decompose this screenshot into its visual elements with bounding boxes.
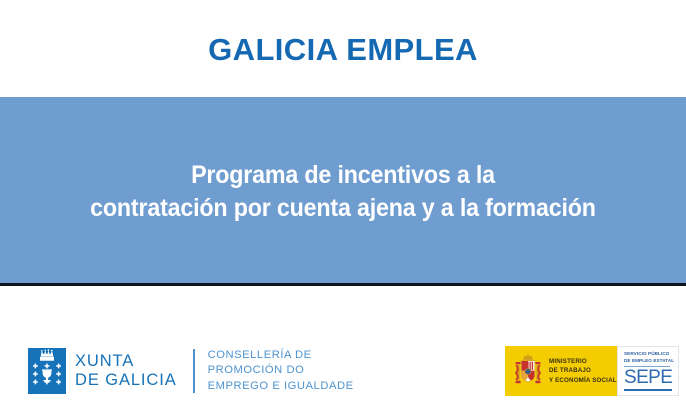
- header-band: GALICIA EMPLEA: [0, 0, 686, 97]
- page-title: GALICIA EMPLEA: [208, 30, 478, 68]
- footer-vertical-divider: [193, 349, 195, 393]
- conselleria-line-2: PROMOCIÓN DO: [208, 363, 354, 378]
- sepe-caption-line-2: DE EMPLEO ESTATAL: [624, 358, 674, 365]
- ministerio-line-2: DE TRABAJO: [549, 366, 617, 375]
- sepe-logo: SERVICIO PÚBLICO DE EMPLEO ESTATAL SEPE: [617, 346, 679, 396]
- sepe-underline-rule: [624, 389, 672, 391]
- footer-logos: XUNTA DE GALICIA CONSELLERÍA DE PROMOCIÓ…: [0, 286, 686, 410]
- program-banner: Programa de incentivos a la contratación…: [0, 97, 686, 283]
- xunta-wordmark-line-2: DE GALICIA: [75, 371, 177, 390]
- sepe-acronym: SEPE: [624, 368, 672, 387]
- ministerio-line-1: MINISTERIO: [549, 357, 617, 366]
- banner-text: Programa de incentivos a la contratación…: [24, 155, 662, 226]
- banner-line-1: Programa de incentivos a la: [24, 159, 662, 192]
- xunta-emblem-icon: [28, 348, 66, 394]
- ministerio-line-3: Y ECONOMÍA SOCIAL: [549, 376, 617, 385]
- sepe-caption-line-1: SERVICIO PÚBLICO: [624, 351, 674, 358]
- banner-line-2: contratación por cuenta ajena y a la for…: [24, 192, 662, 225]
- ministerio-wordmark: MINISTERIO DE TRABAJO Y ECONOMÍA SOCIAL: [549, 357, 617, 385]
- xunta-de-galicia-logo: XUNTA DE GALICIA CONSELLERÍA DE PROMOCIÓ…: [28, 348, 354, 394]
- conselleria-line-3: EMPREGO E IGUALDADE: [208, 379, 354, 394]
- xunta-wordmark: XUNTA DE GALICIA: [75, 352, 177, 390]
- conselleria-wordmark: CONSELLERÍA DE PROMOCIÓN DO EMPREGO E IG…: [208, 348, 354, 394]
- conselleria-line-1: CONSELLERÍA DE: [208, 348, 354, 363]
- xunta-wordmark-line-1: XUNTA: [75, 352, 177, 371]
- sepe-caption: SERVICIO PÚBLICO DE EMPLEO ESTATAL: [624, 351, 674, 365]
- spain-coat-of-arms-icon: [515, 354, 541, 388]
